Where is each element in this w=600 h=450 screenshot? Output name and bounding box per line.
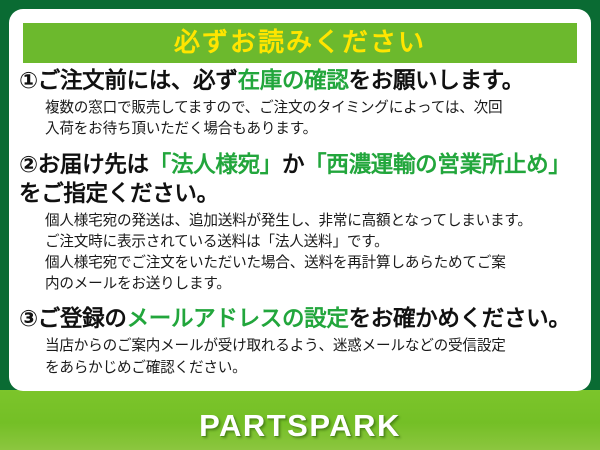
notice-item-1-subtext: 複数の窓口で販売してますので、ご注文のタイミングによっては、次回入荷をお待ち頂い… [17,97,583,139]
text-run-2: か [282,152,304,178]
text-run-1: メールアドレスの設定 [127,306,349,332]
text-run-0: ②お届け先は [19,152,149,178]
text-run-2: をお確かめください。 [349,306,571,332]
notice-panel: 必ずお読みください ①ご注文前には、必ず在庫の確認をお願いします。 複数の窓口で… [9,9,591,391]
notice-item-3: ③ご登録のメールアドレスの設定をお確かめください。 当店からのご案内メールが受け… [17,305,583,377]
subtext-line-2: 個人様宅宛でご注文をいただいた場合、送料を再計算しあらためてご案 [45,252,583,273]
subtext-line-1: をあらかじめご確認ください。 [45,357,583,378]
subtext-line-3: 内のメールをお送りします。 [45,273,583,294]
text-run-0: ①ご注文前には、必ず [19,68,238,94]
text-run-1: 「法人様宛」 [149,152,282,178]
text-run-0: ③ご登録の [19,306,127,332]
notice-item-3-subtext: 当店からのご案内メールが受け取れるよう、迷惑メールなどの受信設定をあらかじめご確… [17,335,583,377]
notice-item-1: ①ご注文前には、必ず在庫の確認をお願いします。 複数の窓口で販売してますので、ご… [17,67,583,139]
subtext-line-1: ご注文時に表示されている送料は「法人送料」です。 [45,231,583,252]
notice-item-2-subtext: 個人様宅宛の発送は、追加送料が発生し、非常に高額となってしまいます。ご注文時に表… [17,210,583,295]
notice-item-3-heading: ③ご登録のメールアドレスの設定をお確かめください。 [17,305,583,333]
page-title: 必ずお読みください [174,30,426,56]
subtext-line-0: 当店からのご案内メールが受け取れるよう、迷惑メールなどの受信設定 [45,335,583,356]
brand-wordmark: PARTSPARK [0,408,600,444]
notice-card: 必ずお読みください ①ご注文前には、必ず在庫の確認をお願いします。 複数の窓口で… [0,0,600,450]
subtext-line-0: 個人様宅宛の発送は、追加送料が発生し、非常に高額となってしまいます。 [45,210,583,231]
text-run-2: をお願いします。 [349,68,524,94]
notice-item-2: ②お届け先は「法人様宛」か「西濃運輸の営業所止め」 をご指定ください。 個人様宅… [17,151,583,294]
notice-item-1-heading: ①ご注文前には、必ず在庫の確認をお願いします。 [17,67,583,95]
text-run-4: をご指定ください。 [19,181,219,207]
title-bar: 必ずお読みください [23,23,577,63]
subtext-line-0: 複数の窓口で販売してますので、ご注文のタイミングによっては、次回 [45,97,583,118]
text-run-1: 在庫の確認 [238,68,349,94]
notice-item-list: ①ご注文前には、必ず在庫の確認をお願いします。 複数の窓口で販売してますので、ご… [9,67,591,380]
subtext-line-1: 入荷をお待ち頂いただく場合もあります。 [45,118,583,139]
notice-item-2-heading: ②お届け先は「法人様宛」か「西濃運輸の営業所止め」 をご指定ください。 [17,151,583,207]
text-run-3: 「西濃運輸の営業所止め」 [304,152,570,178]
